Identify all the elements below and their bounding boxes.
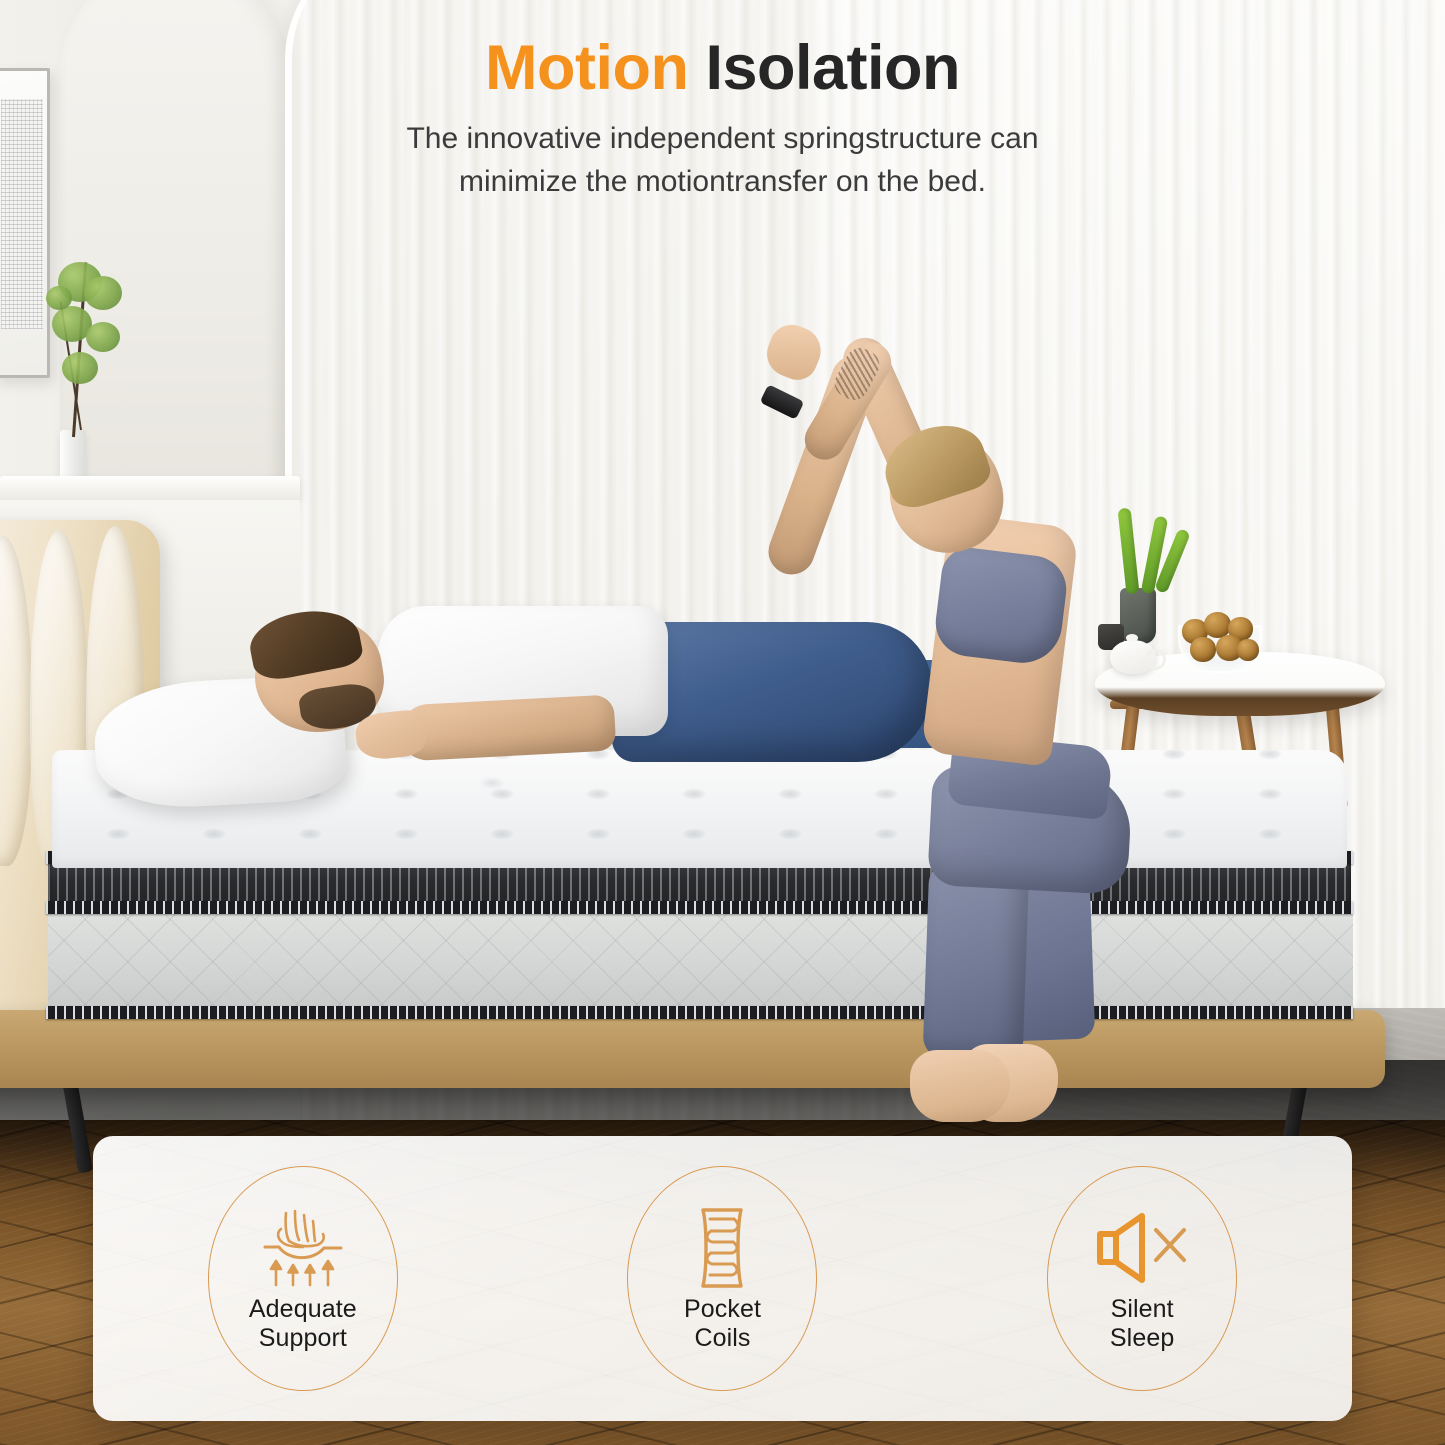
- plant-foliage: [62, 352, 98, 384]
- feature-list: Adequate Support: [93, 1136, 1352, 1421]
- feature-item-silent-sleep[interactable]: Silent Sleep: [1047, 1166, 1237, 1391]
- bed-base: [0, 1010, 1385, 1088]
- white-teapot: [1110, 640, 1156, 674]
- pocket-coil-spring-icon: [687, 1205, 757, 1291]
- page-title: Motion Isolation: [0, 36, 1445, 100]
- headboard-tuft: [0, 536, 32, 866]
- page-subtitle: The innovative independent springstructu…: [0, 118, 1445, 203]
- mattress-side-panel: [48, 912, 1353, 1010]
- subtitle-line-1: The innovative independent springstructu…: [0, 118, 1445, 161]
- feature-label-line-2: Coils: [684, 1324, 761, 1353]
- woman-sports-bra: [932, 545, 1070, 668]
- woman-foot-front: [910, 1050, 1010, 1122]
- plant-foliage: [86, 322, 120, 352]
- feature-item-pocket-coils[interactable]: Pocket Coils: [627, 1166, 817, 1391]
- subtitle-line-2: minimize the motiontransfer on the bed.: [0, 161, 1445, 204]
- wall-molding: [0, 476, 300, 500]
- hand-pressing-support-icon: [255, 1205, 351, 1291]
- muted-speaker-icon: [1092, 1205, 1192, 1291]
- man-arm: [399, 694, 617, 761]
- header-block: Motion Isolation The innovative independ…: [0, 36, 1445, 203]
- feature-label-line-1: Silent: [1110, 1295, 1174, 1324]
- plant-foliage: [46, 286, 72, 310]
- feature-label-line-1: Adequate: [249, 1295, 357, 1324]
- feature-label-line-1: Pocket: [684, 1295, 761, 1324]
- feature-label-line-2: Sleep: [1110, 1324, 1174, 1353]
- kiwi-fruit: [1237, 639, 1259, 661]
- mattress-lower-trim: [46, 901, 1353, 914]
- kiwi-fruit: [1190, 637, 1216, 662]
- feature-item-adequate-support[interactable]: Adequate Support: [208, 1166, 398, 1391]
- product-marketing-image: Motion Isolation The innovative independ…: [0, 0, 1445, 1445]
- title-highlight: Motion: [485, 33, 688, 103]
- title-plain: Isolation: [705, 33, 960, 103]
- feature-panel: Adequate Support: [93, 1136, 1352, 1421]
- feature-label-silent-sleep: Silent Sleep: [1110, 1295, 1174, 1353]
- feature-label-pocket-coils: Pocket Coils: [684, 1295, 761, 1353]
- plant-foliage: [84, 276, 122, 310]
- feature-label-adequate-support: Adequate Support: [249, 1295, 357, 1353]
- feature-label-line-2: Support: [249, 1324, 357, 1353]
- mattress-bottom-trim: [46, 1006, 1353, 1019]
